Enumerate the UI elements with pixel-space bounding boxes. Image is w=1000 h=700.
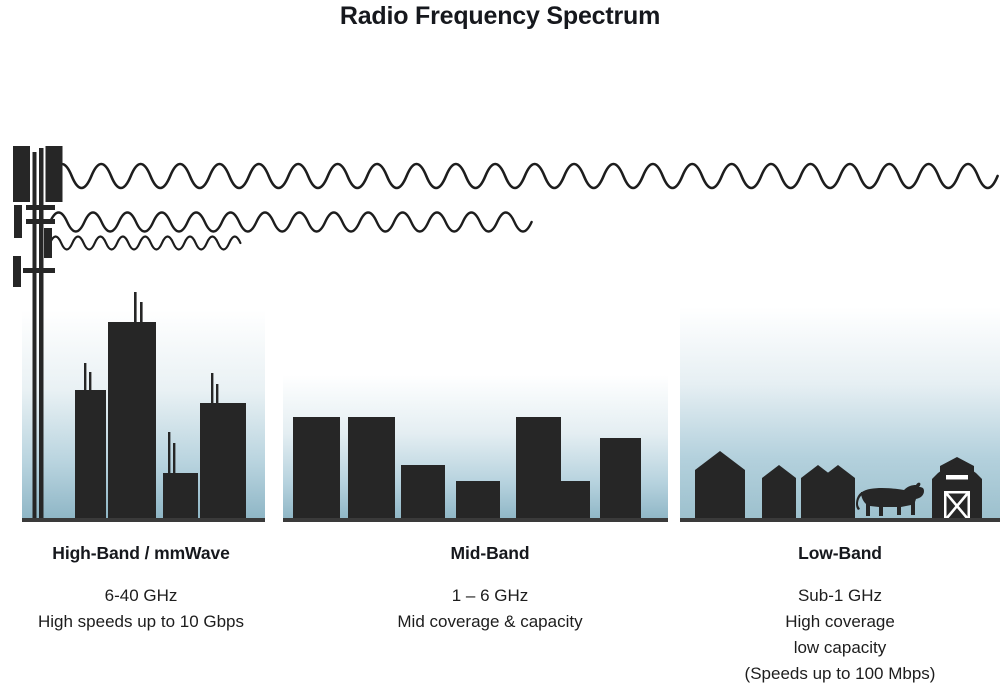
band-column-low-band: Low-Band Sub-1 GHz High coverage low cap… bbox=[680, 543, 1000, 687]
spire-1b bbox=[89, 372, 91, 392]
tower-panel-mid-right bbox=[44, 228, 52, 258]
building-icon-5 bbox=[516, 417, 561, 521]
skyscraper-icon-2 bbox=[108, 322, 156, 521]
building-icon-2 bbox=[348, 417, 395, 521]
building-icon-7 bbox=[600, 438, 641, 521]
skyscraper-icon-4 bbox=[200, 403, 246, 521]
tower-panel-top-left bbox=[13, 146, 30, 202]
tower-panel-mid-left bbox=[14, 205, 22, 238]
spire-4a bbox=[211, 373, 213, 404]
spire-2b bbox=[140, 302, 143, 324]
band-detail-low-band-3: (Speeds up to 100 Mbps) bbox=[680, 661, 1000, 687]
skyscraper-icon-3 bbox=[163, 473, 198, 521]
tower-panel-top-right bbox=[46, 146, 63, 202]
tower-crossarm-upper2 bbox=[26, 219, 55, 224]
short-wavelength-wave bbox=[50, 237, 240, 250]
band-label-row: High-Band / mmWave 6-40 GHz High speeds … bbox=[0, 543, 1000, 700]
building-icon-6 bbox=[561, 481, 590, 521]
radio-waves bbox=[50, 164, 998, 250]
band-title-high-band: High-Band / mmWave bbox=[0, 543, 282, 564]
band-title-low-band: Low-Band bbox=[680, 543, 1000, 564]
tower-crossarm-upper bbox=[26, 205, 55, 210]
band-frequency-high-band: 6-40 GHz bbox=[0, 583, 282, 609]
building-icon-1 bbox=[293, 417, 340, 521]
band-frequency-low-band: Sub-1 GHz bbox=[680, 583, 1000, 609]
ground-lines bbox=[22, 518, 1000, 522]
spire-4b bbox=[216, 384, 218, 404]
ground-line-low-band bbox=[680, 518, 1000, 522]
spire-3a bbox=[168, 432, 170, 474]
long-wavelength-wave bbox=[52, 164, 998, 188]
ground-line-high-band bbox=[22, 518, 265, 522]
medium-wavelength-wave bbox=[50, 213, 532, 232]
band-detail-mid-band-1: Mid coverage & capacity bbox=[330, 609, 650, 635]
band-title-mid-band: Mid-Band bbox=[330, 543, 650, 564]
tower-panel-low-left bbox=[13, 256, 21, 287]
building-icon-3 bbox=[401, 465, 445, 521]
infographic-root: Radio Frequency Spectrum bbox=[0, 0, 1000, 700]
band-column-mid-band: Mid-Band 1 – 6 GHz Mid coverage & capaci… bbox=[330, 543, 650, 635]
ground-line-mid-band bbox=[283, 518, 668, 522]
band-detail-high-band-1: High speeds up to 10 Gbps bbox=[0, 609, 282, 635]
band-frequency-mid-band: 1 – 6 GHz bbox=[330, 583, 650, 609]
building-icon-4 bbox=[456, 481, 500, 521]
spire-3b bbox=[173, 443, 175, 474]
band-column-high-band: High-Band / mmWave 6-40 GHz High speeds … bbox=[0, 543, 282, 635]
skyscraper-icon-1 bbox=[75, 390, 106, 521]
spire-1a bbox=[84, 363, 86, 392]
band-detail-low-band-1: High coverage bbox=[680, 609, 1000, 635]
band-detail-low-band-2: low capacity bbox=[680, 635, 1000, 661]
tower-mast-right bbox=[39, 148, 44, 521]
tower-crossarm-lower bbox=[23, 268, 55, 273]
spire-2a bbox=[134, 292, 137, 324]
